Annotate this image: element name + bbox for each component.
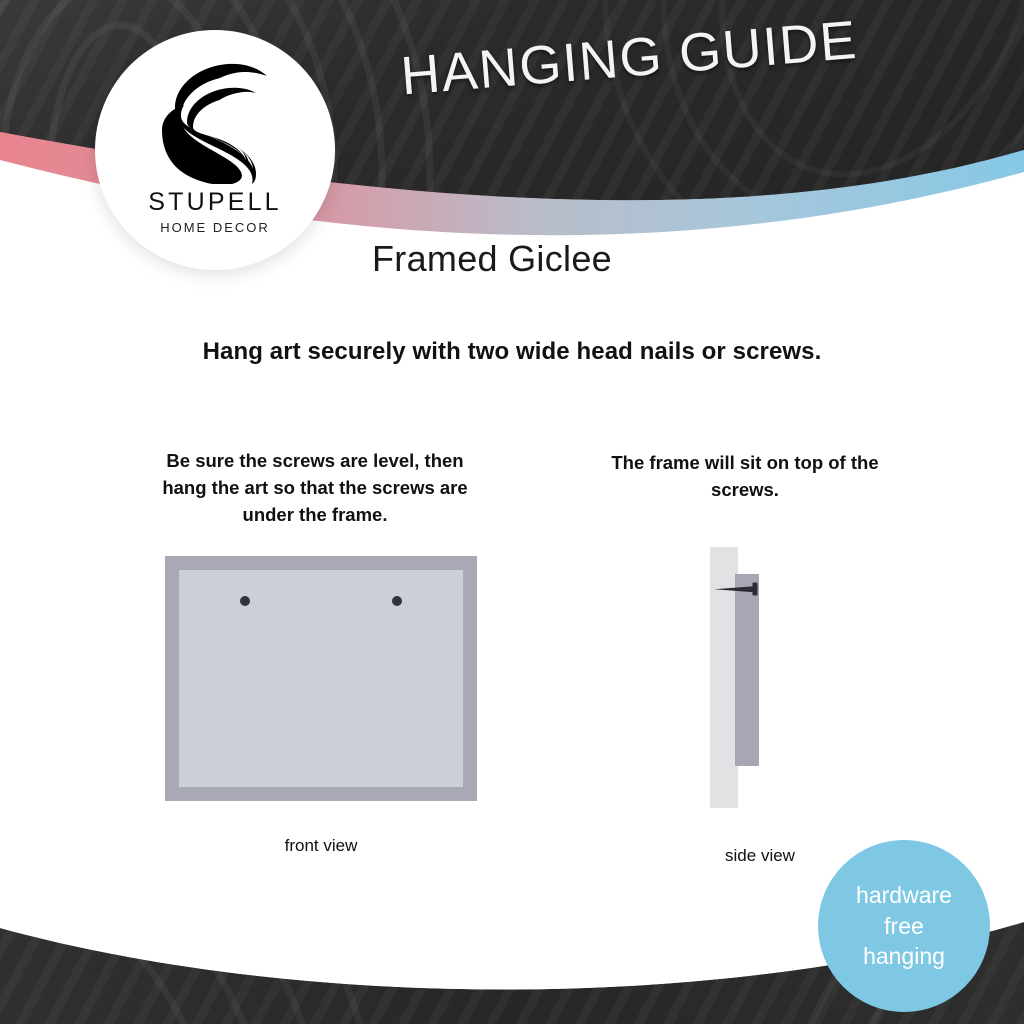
side-view-label: side view (645, 846, 875, 866)
badge-line-1: hardware (856, 880, 952, 911)
hanging-guide-page: STUPELL HOME DECOR HANGING GUIDE Framed … (0, 0, 1024, 1024)
brand-subwordmark: HOME DECOR (160, 220, 270, 235)
nail-icon (714, 582, 762, 596)
main-instruction-text: Hang art securely with two wide head nai… (0, 338, 1024, 366)
front-view-label: front view (171, 836, 471, 856)
brand-logo-badge: STUPELL HOME DECOR (95, 30, 335, 270)
brand-wordmark: STUPELL (148, 188, 282, 217)
side-view-caption: The frame will sit on top of the screws. (590, 450, 900, 504)
front-view-caption: Be sure the screws are level, then hang … (150, 448, 480, 528)
side-view-diagram (710, 547, 810, 809)
hardware-free-hanging-badge: hardware free hanging (818, 840, 990, 1012)
screw-dot-left (240, 596, 250, 606)
side-view-frame (735, 574, 759, 766)
badge-line-2: free (884, 911, 924, 942)
product-type-label: Framed Giclee (372, 238, 612, 280)
page-title: HANGING GUIDE (368, 6, 891, 110)
stupell-swoosh-icon (157, 52, 273, 184)
front-view-diagram (165, 556, 477, 801)
badge-line-3: hanging (863, 941, 945, 972)
front-view-art-panel (179, 570, 463, 787)
screw-dot-right (392, 596, 402, 606)
